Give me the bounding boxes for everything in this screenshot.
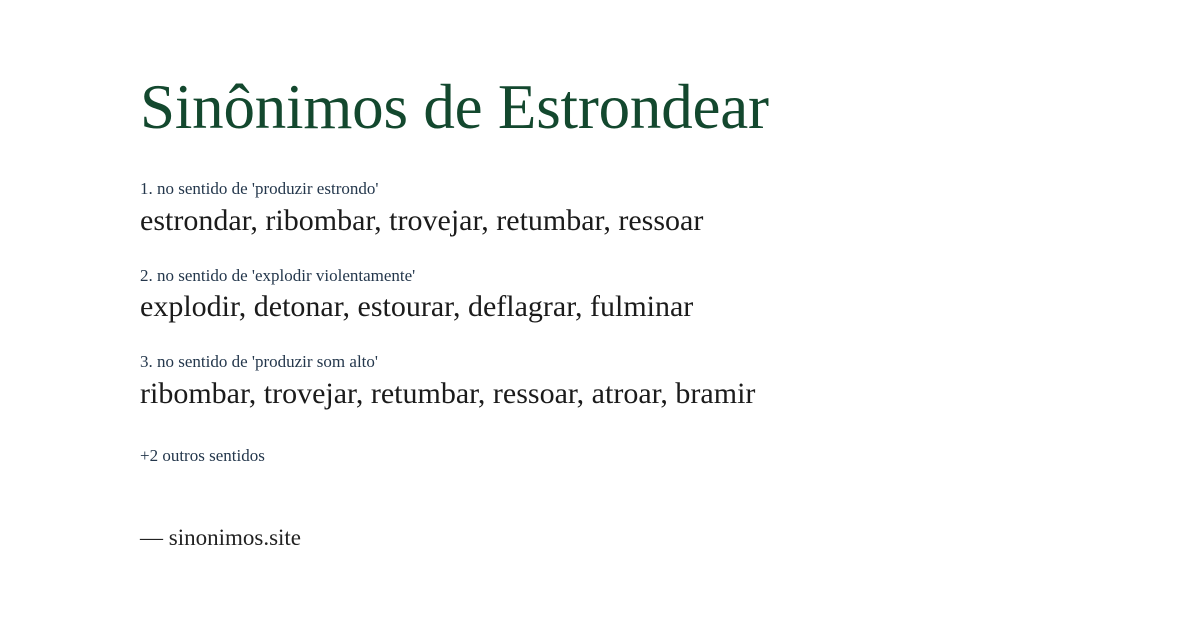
sense-label: 1. no sentido de 'produzir estrondo': [140, 179, 1140, 199]
sense-block: 1. no sentido de 'produzir estrondo' est…: [140, 179, 1140, 239]
sense-label: 3. no sentido de 'produzir som alto': [140, 352, 1140, 372]
sense-block: 2. no sentido de 'explodir violentamente…: [140, 266, 1140, 326]
sense-label: 2. no sentido de 'explodir violentamente…: [140, 266, 1140, 286]
site-attribution: — sinonimos.site: [140, 524, 301, 552]
sense-synonyms: explodir, detonar, estourar, deflagrar, …: [140, 289, 1140, 325]
sense-block: 3. no sentido de 'produzir som alto' rib…: [140, 352, 1140, 412]
more-senses-note: +2 outros sentidos: [140, 446, 265, 466]
synonym-card: Sinônimos de Estrondear 1. no sentido de…: [0, 0, 1200, 628]
page-title: Sinônimos de Estrondear: [140, 76, 769, 139]
sense-synonyms: ribombar, trovejar, retumbar, ressoar, a…: [140, 376, 1140, 412]
sense-synonyms: estrondar, ribombar, trovejar, retumbar,…: [140, 203, 1140, 239]
senses-list: 1. no sentido de 'produzir estrondo' est…: [140, 179, 1140, 412]
